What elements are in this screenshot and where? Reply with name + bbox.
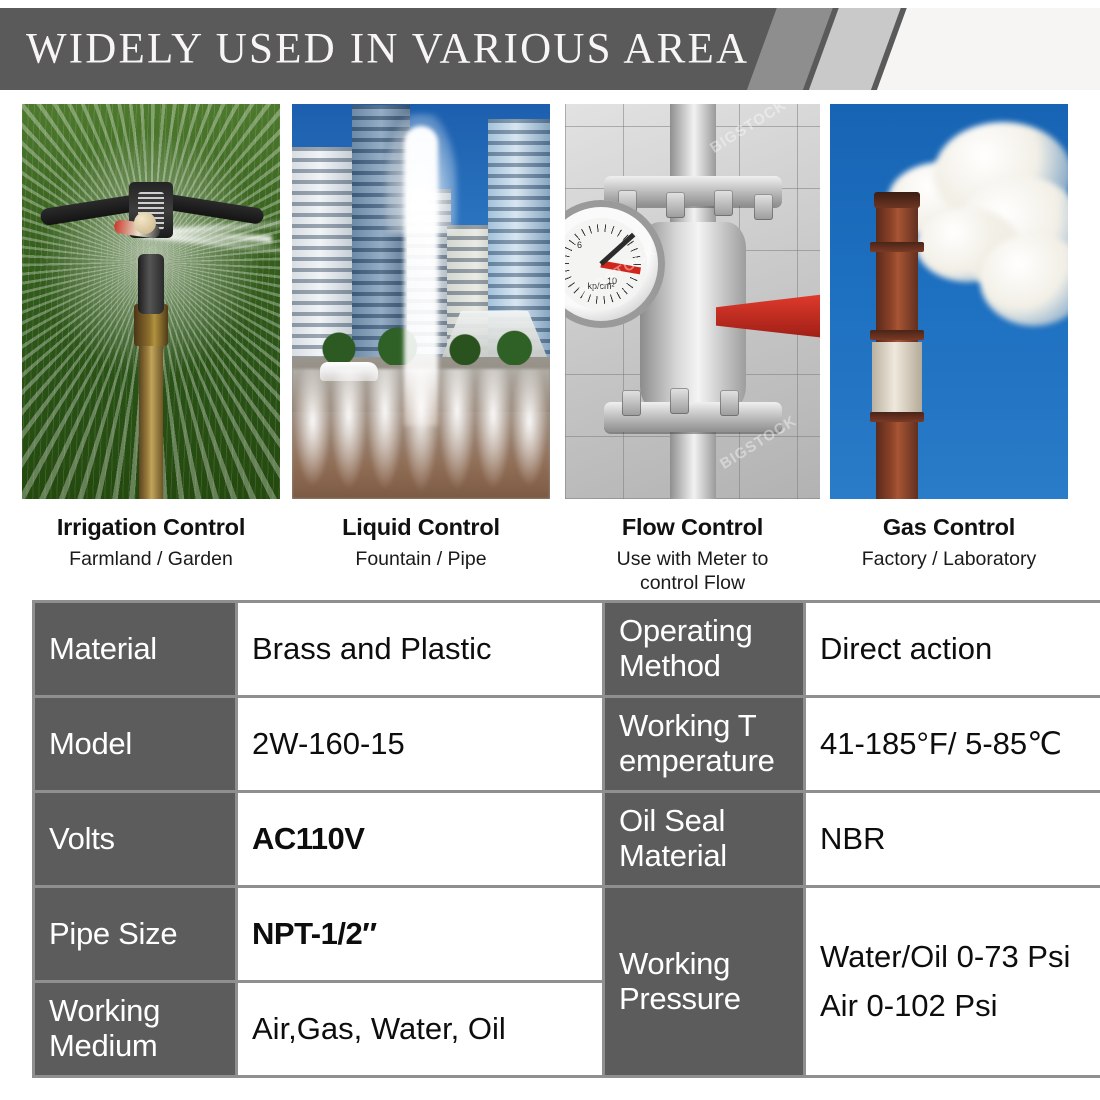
gauge-unit-label: kp/cm² (588, 281, 615, 291)
table-row: Pipe Size NPT-1/2″ Working Pressure Wate… (35, 888, 1100, 980)
spec-label-oil-seal-material: Oil Seal Material (605, 793, 803, 885)
fountain-water-plume (385, 114, 457, 234)
spec-label-operating-method: Operating Method (605, 603, 803, 695)
application-card-subtitle: Farmland / Garden (22, 547, 280, 571)
application-card-flow: 6 10 kp/cm² BIGSTOCK BIGSTOCK BIGSTOCK F… (565, 104, 820, 595)
spec-value-oil-seal-material: NBR (806, 793, 1100, 885)
spec-label-working-pressure: Working Pressure (605, 888, 803, 1075)
flange-bolt (622, 390, 641, 416)
chimney-ring (870, 242, 924, 252)
working-pressure-line-2: Air 0-102 Psi (820, 989, 1100, 1024)
header-slash-white (868, 8, 1100, 90)
spec-label-working-medium: Working Medium (35, 983, 235, 1075)
spec-value-material: Brass and Plastic (238, 603, 602, 695)
sprinkler-knob (134, 212, 156, 234)
application-card-subtitle: Factory / Laboratory (830, 547, 1068, 571)
pipe-flange-bottom (604, 402, 782, 432)
fountain-photo (292, 104, 550, 499)
application-card-subtitle-line1: Use with Meter to (617, 548, 769, 570)
chimney-white-band (872, 342, 922, 416)
application-card-subtitle-line2: control Flow (640, 572, 745, 594)
gas-smokestack-photo (830, 104, 1068, 499)
spec-value-pipe-size: NPT-1/2″ (238, 888, 602, 980)
spec-label-pipe-size: Pipe Size (35, 888, 235, 980)
page-title: WIDELY USED IN VARIOUS AREA (26, 28, 749, 71)
spec-value-working-temperature: 41-185°F/ 5-85℃ (806, 698, 1100, 790)
application-card-subtitle: Fountain / Pipe (292, 547, 550, 571)
fountain-basin-jets (292, 369, 550, 499)
spec-value-operating-method: Direct action (806, 603, 1100, 695)
header-banner: WIDELY USED IN VARIOUS AREA (0, 8, 1100, 90)
chimney-cap (874, 192, 920, 208)
gauge-face: 6 10 kp/cm² (565, 218, 647, 310)
flange-bolt (670, 388, 689, 414)
application-card-liquid: Liquid Control Fountain / Pipe (292, 104, 550, 571)
flange-bolt (666, 192, 685, 218)
application-card-title: Irrigation Control (22, 515, 280, 540)
specification-table: Material Brass and Plastic Operating Met… (32, 600, 1100, 1078)
spec-value-working-medium: Air,Gas, Water, Oil (238, 983, 602, 1075)
spec-label-material: Material (35, 603, 235, 695)
pipe-flange-top (604, 176, 782, 206)
chimney-ring (870, 330, 924, 340)
spec-value-model: 2W-160-15 (238, 698, 602, 790)
spec-label-model: Model (35, 698, 235, 790)
flow-valve-photo: 6 10 kp/cm² BIGSTOCK BIGSTOCK BIGSTOCK (565, 104, 820, 499)
working-pressure-line-1: Water/Oil 0-73 Psi (820, 940, 1100, 975)
application-card-gas: Gas Control Factory / Laboratory (830, 104, 1068, 571)
spec-value-working-pressure: Water/Oil 0-73 Psi Air 0-102 Psi (806, 888, 1100, 1075)
table-row: Model 2W-160-15 Working T emperature 41-… (35, 698, 1100, 790)
spec-value-volts: AC110V (238, 793, 602, 885)
application-card-irrigation: Irrigation Control Farmland / Garden (22, 104, 280, 571)
irrigation-photo (22, 104, 280, 499)
application-card-subtitle: Use with Meter to control Flow (565, 547, 820, 596)
application-card-title: Gas Control (830, 515, 1068, 540)
application-cards-row: Irrigation Control Farmland / Garden Liq… (0, 104, 1100, 584)
spec-label-volts: Volts (35, 793, 235, 885)
application-card-title: Liquid Control (292, 515, 550, 540)
flange-bolt (754, 194, 773, 220)
table-row: Volts AC110V Oil Seal Material NBR (35, 793, 1100, 885)
flange-bolt (714, 190, 733, 216)
flange-bolt (720, 390, 739, 416)
application-card-title: Flow Control (565, 515, 820, 540)
spec-label-working-temperature: Working T emperature (605, 698, 803, 790)
table-row: Material Brass and Plastic Operating Met… (35, 603, 1100, 695)
chimney-ring (870, 412, 924, 422)
sprinkler-body (138, 254, 164, 314)
gauge-scale-number: 6 (577, 240, 582, 250)
